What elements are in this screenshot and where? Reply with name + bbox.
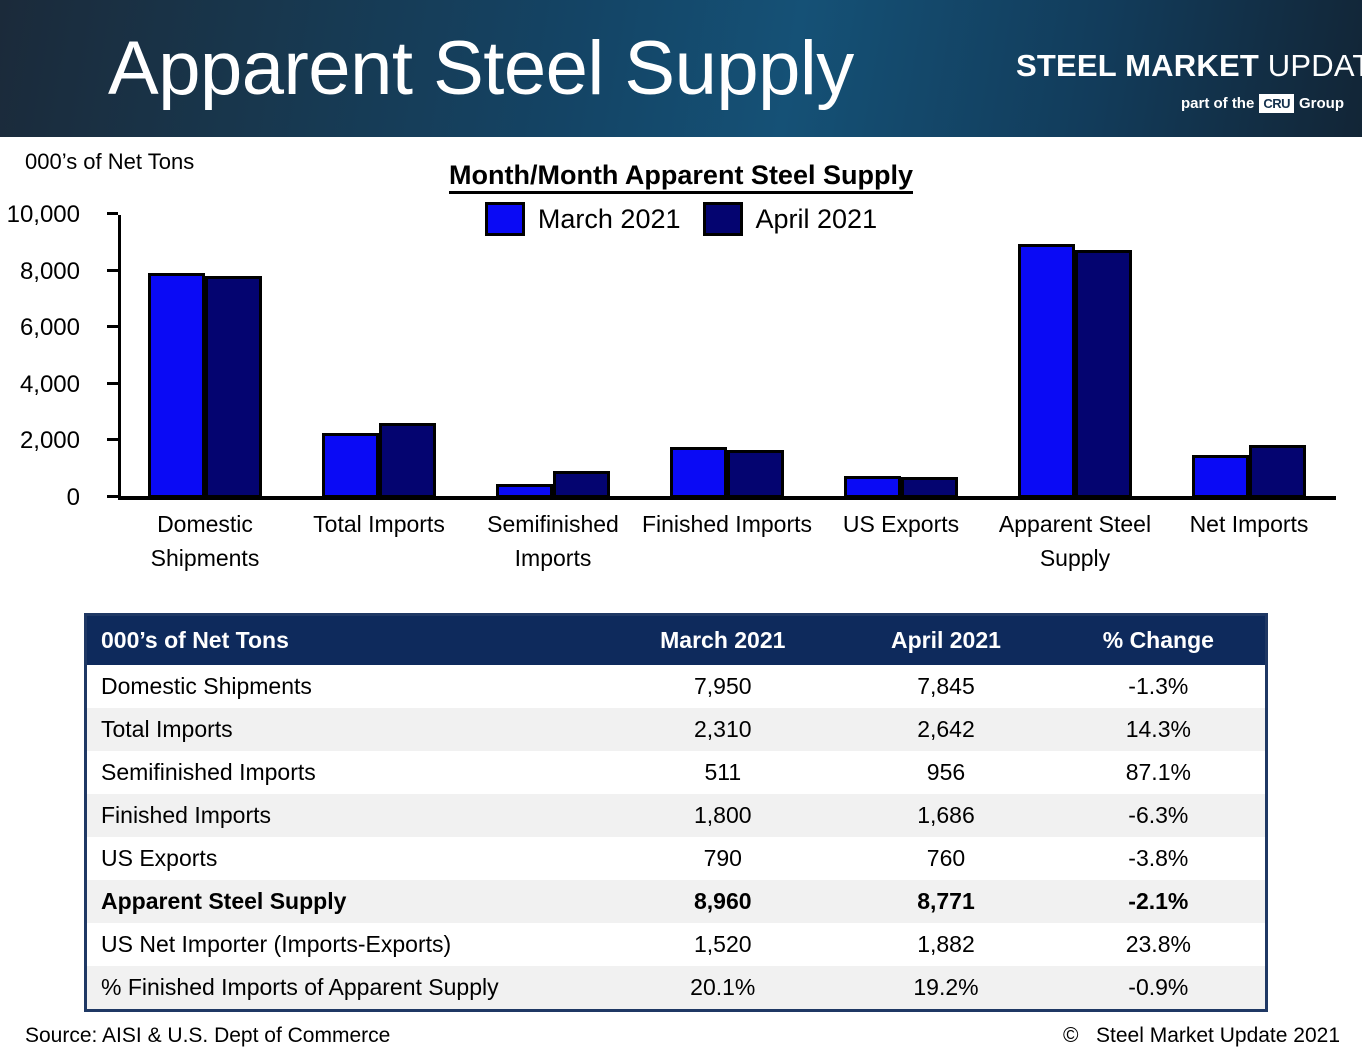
bar-1-1[interactable] <box>148 273 205 498</box>
table-row: Domestic Shipments7,9507,845-1.3% <box>87 665 1265 708</box>
logo-word-market: MARKET <box>1125 48 1268 83</box>
table-row: Total Imports2,3102,64214.3% <box>87 708 1265 751</box>
row-label: Total Imports <box>87 708 605 751</box>
bar-2-2[interactable] <box>379 423 436 498</box>
bar-4-1[interactable] <box>670 447 727 498</box>
data-table: 000’s of Net Tons March 2021 April 2021 … <box>84 613 1268 1012</box>
table-header-cell-label: 000’s of Net Tons <box>87 616 605 665</box>
row-april-value: 760 <box>840 837 1051 880</box>
row-label: US Exports <box>87 837 605 880</box>
bar-6-2[interactable] <box>1075 250 1132 498</box>
bar-3-2[interactable] <box>553 471 610 498</box>
header-banner: Apparent Steel Supply STEEL MARKET UPDAT… <box>0 0 1362 137</box>
brand-logo: STEEL MARKET UPDATE part of the CRU Grou… <box>1004 18 1346 122</box>
row-march-value: 2,310 <box>605 708 840 751</box>
chart-title-text: Month/Month Apparent Steel Supply <box>449 160 913 194</box>
row-change-value: 87.1% <box>1052 751 1265 794</box>
table-header-cell-change: % Change <box>1052 616 1265 665</box>
table-row: Semifinished Imports51195687.1% <box>87 751 1265 794</box>
y-axis-label-1: 2,000 <box>0 427 80 455</box>
logo-word-steel: STEEL <box>1016 48 1125 83</box>
logo-word-update: UPDATE <box>1268 48 1362 83</box>
x-axis-label-6: Apparent Steel Supply <box>976 507 1174 575</box>
logo-tagline: part of the CRU Group <box>1181 94 1344 113</box>
y-axis-tick-5 <box>107 212 118 215</box>
footer-copyright: © Steel Market Update 2021 <box>1063 1024 1340 1048</box>
table-row: % Finished Imports of Apparent Supply20.… <box>87 966 1265 1009</box>
table-row: Finished Imports1,8001,686-6.3% <box>87 794 1265 837</box>
row-march-value: 511 <box>605 751 840 794</box>
y-axis-tick-4 <box>107 269 118 272</box>
x-axis-label-4: Finished Imports <box>628 507 826 541</box>
y-axis-label-4: 8,000 <box>0 258 80 286</box>
x-axis-label-3: Semifinished Imports <box>454 507 652 575</box>
logo-wordmark: STEEL MARKET UPDATE <box>1016 50 1346 81</box>
y-axis-label-3: 6,000 <box>0 314 80 342</box>
bar-3-1[interactable] <box>496 484 553 498</box>
table-header-row: 000’s of Net Tons March 2021 April 2021 … <box>87 616 1265 665</box>
y-axis-tick-3 <box>107 325 118 328</box>
footer-source: Source: AISI & U.S. Dept of Commerce <box>25 1024 390 1048</box>
copyright-text: Steel Market Update 2021 <box>1096 1024 1340 1047</box>
bar-4-2[interactable] <box>727 450 784 498</box>
bar-5-1[interactable] <box>844 476 901 498</box>
row-label: % Finished Imports of Apparent Supply <box>87 966 605 1009</box>
row-change-value: -1.3% <box>1052 665 1265 708</box>
row-april-value: 7,845 <box>840 665 1051 708</box>
table-row: Apparent Steel Supply8,9608,771-2.1% <box>87 880 1265 923</box>
row-change-value: -2.1% <box>1052 880 1265 923</box>
row-march-value: 790 <box>605 837 840 880</box>
bar-chart: Month/Month Apparent Steel Supply March … <box>0 150 1362 600</box>
row-label: Finished Imports <box>87 794 605 837</box>
x-axis-label-2: Total Imports <box>280 507 478 541</box>
logo-cru-badge: CRU <box>1259 94 1294 113</box>
row-march-value: 1,800 <box>605 794 840 837</box>
bar-1-2[interactable] <box>205 276 262 498</box>
row-april-value: 956 <box>840 751 1051 794</box>
bar-2-1[interactable] <box>322 433 379 498</box>
x-axis-label-5: US Exports <box>802 507 1000 541</box>
bar-6-1[interactable] <box>1018 244 1075 498</box>
y-axis-label-2: 4,000 <box>0 371 80 399</box>
x-axis-label-7: Net Imports <box>1150 507 1348 541</box>
row-change-value: 14.3% <box>1052 708 1265 751</box>
row-label: Semifinished Imports <box>87 751 605 794</box>
page-title: Apparent Steel Supply <box>108 26 854 112</box>
row-april-value: 1,882 <box>840 923 1051 966</box>
row-april-value: 1,686 <box>840 794 1051 837</box>
row-change-value: -3.8% <box>1052 837 1265 880</box>
chart-plot-area: 02,0004,0006,0008,00010,000Domestic Ship… <box>118 215 1336 500</box>
row-march-value: 8,960 <box>605 880 840 923</box>
y-axis-tick-1 <box>107 438 118 441</box>
table-row: US Exports790760-3.8% <box>87 837 1265 880</box>
table-row: US Net Importer (Imports-Exports)1,5201,… <box>87 923 1265 966</box>
row-april-value: 19.2% <box>840 966 1051 1009</box>
copyright-symbol: © <box>1063 1024 1078 1047</box>
row-change-value: -6.3% <box>1052 794 1265 837</box>
logo-tagline-prefix: part of the <box>1181 95 1254 113</box>
bar-7-2[interactable] <box>1249 445 1306 498</box>
y-axis-line <box>118 215 121 500</box>
y-axis-label-5: 10,000 <box>0 201 80 229</box>
row-label: Domestic Shipments <box>87 665 605 708</box>
row-change-value: -0.9% <box>1052 966 1265 1009</box>
logo-tagline-suffix: Group <box>1299 95 1344 113</box>
y-axis-tick-0 <box>107 495 118 498</box>
bar-5-2[interactable] <box>901 477 958 499</box>
x-axis-label-1: Domestic Shipments <box>106 507 304 575</box>
row-march-value: 1,520 <box>605 923 840 966</box>
row-label: US Net Importer (Imports-Exports) <box>87 923 605 966</box>
row-april-value: 8,771 <box>840 880 1051 923</box>
row-label: Apparent Steel Supply <box>87 880 605 923</box>
row-march-value: 7,950 <box>605 665 840 708</box>
row-march-value: 20.1% <box>605 966 840 1009</box>
row-april-value: 2,642 <box>840 708 1051 751</box>
row-change-value: 23.8% <box>1052 923 1265 966</box>
table-header-cell-april: April 2021 <box>840 616 1051 665</box>
table-header-cell-march: March 2021 <box>605 616 840 665</box>
y-axis-tick-2 <box>107 382 118 385</box>
y-axis-label-0: 0 <box>0 484 80 512</box>
bar-7-1[interactable] <box>1192 455 1249 498</box>
chart-title: Month/Month Apparent Steel Supply <box>0 160 1362 191</box>
table-body: Domestic Shipments7,9507,845-1.3%Total I… <box>87 665 1265 1009</box>
